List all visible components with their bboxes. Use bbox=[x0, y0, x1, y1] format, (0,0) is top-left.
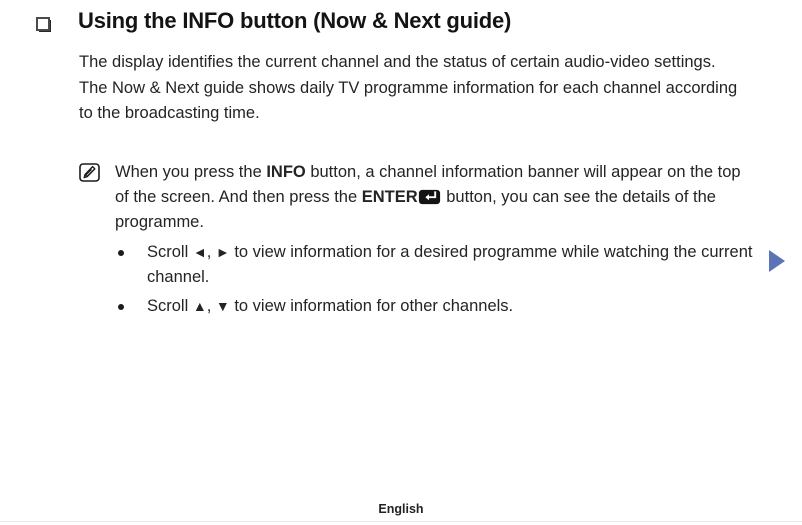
paragraph-2: The Now & Next guide shows daily TV prog… bbox=[79, 76, 749, 126]
footer-divider bbox=[0, 521, 802, 522]
note-bold-info: INFO bbox=[266, 163, 305, 181]
right-triangle-icon: ► bbox=[216, 244, 230, 260]
note-block: When you press the INFO button, a channe… bbox=[79, 160, 754, 235]
bullet-1-part1: Scroll bbox=[147, 243, 193, 261]
note-pencil-icon bbox=[79, 163, 100, 182]
down-triangle-icon: ▼ bbox=[216, 298, 230, 314]
body-paragraphs: The display identifies the current chann… bbox=[79, 50, 749, 127]
hollow-square-shadow-icon bbox=[36, 17, 50, 31]
next-page-arrow-icon[interactable] bbox=[769, 250, 785, 272]
bullet-2-part1: Scroll bbox=[147, 297, 193, 315]
list-item: Scroll ▲, ▼ to view information for othe… bbox=[118, 294, 758, 319]
bullet-2-part3: to view information for other channels. bbox=[230, 297, 513, 315]
note-bold-enter: ENTER bbox=[362, 188, 418, 206]
bullet-2-part2: , bbox=[207, 297, 216, 315]
up-triangle-icon: ▲ bbox=[193, 298, 207, 314]
footer-language-label: English bbox=[0, 502, 802, 516]
enter-key-icon bbox=[418, 188, 441, 204]
scroll-instructions-list: Scroll ◄, ► to view information for a de… bbox=[118, 240, 758, 323]
left-triangle-icon: ◄ bbox=[193, 244, 207, 260]
note-text-part1: When you press the bbox=[115, 163, 266, 181]
list-item-text: Scroll ▲, ▼ to view information for othe… bbox=[147, 294, 758, 319]
note-text: When you press the INFO button, a channe… bbox=[115, 160, 754, 235]
bullet-1-part2: , bbox=[207, 243, 216, 261]
page-title-text: Using the INFO button (Now & Next guide) bbox=[78, 8, 511, 34]
page-title: Using the INFO button (Now & Next guide) bbox=[36, 8, 776, 34]
round-dot-icon bbox=[118, 304, 124, 310]
list-item-text: Scroll ◄, ► to view information for a de… bbox=[147, 240, 758, 290]
list-item: Scroll ◄, ► to view information for a de… bbox=[118, 240, 758, 290]
paragraph-1: The display identifies the current chann… bbox=[79, 50, 749, 75]
bullet-1-part3: to view information for a desired progra… bbox=[147, 243, 752, 286]
round-dot-icon bbox=[118, 250, 124, 256]
manual-page: Using the INFO button (Now & Next guide)… bbox=[0, 0, 802, 525]
